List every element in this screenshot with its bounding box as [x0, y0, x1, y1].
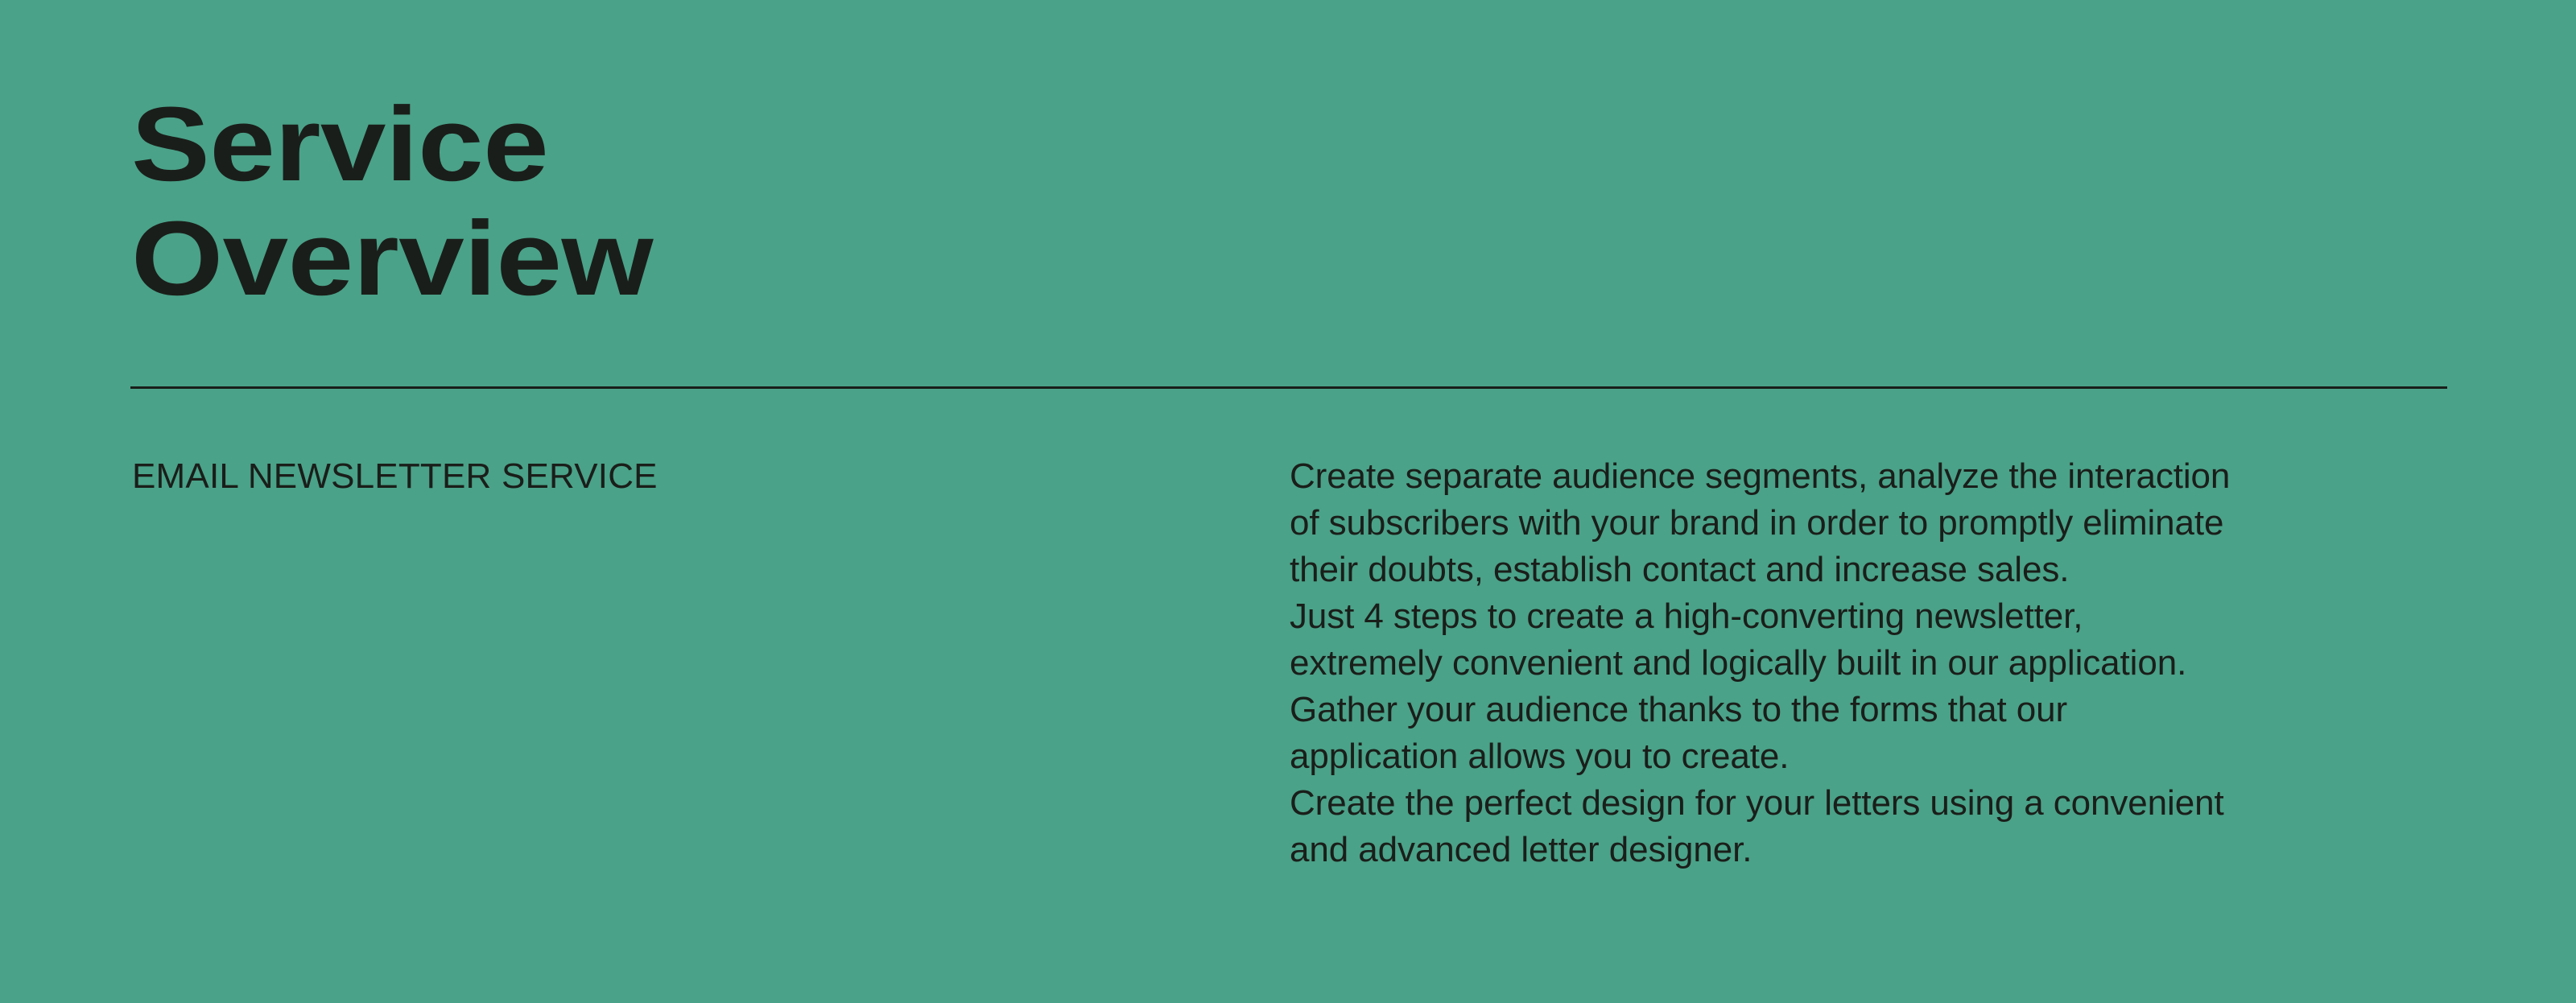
page-title-line-2: Overview — [131, 201, 2576, 316]
content-row: EMAIL NEWSLETTER SERVICE Create separate… — [0, 453, 2576, 872]
body-line: Gather your audience thanks to the forms… — [1290, 687, 2360, 733]
body-line: application allows you to create. — [1290, 733, 2360, 780]
page-title: Service Overview — [131, 87, 2450, 316]
body-line: their doubts, establish contact and incr… — [1290, 547, 2360, 593]
body-line: of subscribers with your brand in order … — [1290, 500, 2360, 547]
body-line: and advanced letter designer. — [1290, 827, 2360, 873]
body-line: Just 4 steps to create a high-converting… — [1290, 593, 2360, 640]
service-label: EMAIL NEWSLETTER SERVICE — [132, 453, 658, 500]
body-line: Create separate audience segments, analy… — [1290, 453, 2360, 500]
page-title-line-1: Service — [131, 87, 2576, 201]
body-line: Create the perfect design for your lette… — [1290, 780, 2360, 827]
heading-divider — [130, 386, 2447, 389]
body-copy: Create separate audience segments, analy… — [1290, 453, 2360, 873]
slide-root: Service Overview EMAIL NEWSLETTER SERVIC… — [0, 0, 2576, 1003]
body-line: extremely convenient and logically built… — [1290, 640, 2360, 687]
